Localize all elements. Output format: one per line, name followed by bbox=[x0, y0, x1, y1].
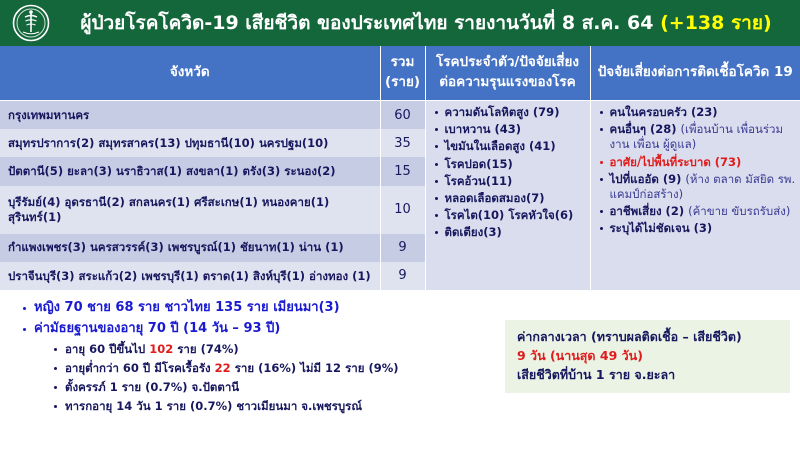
page-header: ผู้ป่วยโรคโควิด-19 เสียชีวิต ของประเทศไท… bbox=[0, 0, 800, 46]
age-item-pre: อายุต่ำกว่า 60 ปี มีโรคเรื้อรัง bbox=[65, 361, 215, 375]
chronic-item-label: โรคไต(10) โรคหัวใจ(6) bbox=[445, 208, 574, 222]
risk-item-label: คนในครอบครัว (23) bbox=[610, 105, 718, 119]
table-header-row: จังหวัด รวม (ราย) โรคประจำตัว/ปัจจัยเสี่… bbox=[0, 46, 800, 101]
time-to-death-value: 9 วัน (นานสุด 49 วัน) bbox=[517, 347, 780, 366]
died-at-home-note: เสียชีวิตที่บ้าน 1 ราย จ.ยะลา bbox=[517, 366, 780, 385]
column-header-total: รวม (ราย) bbox=[380, 46, 425, 101]
age-item-post: ราย (16%) ไม่มี 12 ราย (9%) bbox=[231, 361, 399, 375]
chronic-item-label: ติดเตียง(3) bbox=[445, 225, 502, 239]
column-header-chronic-line1: โรคประจำตัว/ปัจจัยเสี่ยง bbox=[436, 54, 579, 70]
summary-list: หญิง 70 ชาย 68 ราย ชาวไทย 135 ราย เมียนม… bbox=[0, 300, 460, 414]
list-item: ติดเตียง(3) bbox=[432, 225, 586, 240]
age-item-pre: อายุ 60 ปีขึ้นไป bbox=[65, 342, 149, 356]
chronic-item-label: หลอดเลือดสมอง(7) bbox=[445, 191, 545, 205]
age-item-pre: ตั้งครรภ์ 1 ราย (0.7%) จ.ปัตตานี bbox=[65, 380, 239, 394]
page-title: ผู้ป่วยโรคโควิด-19 เสียชีวิต ของประเทศไท… bbox=[62, 13, 800, 34]
age-item-highlight: 22 bbox=[215, 361, 231, 375]
list-item: หลอดเลือดสมอง(7) bbox=[432, 191, 586, 206]
infection-risk-panel: คนในครอบครัว (23) คนอื่นๆ (28) (เพื่อนบ้… bbox=[590, 101, 800, 291]
province-total: 10 bbox=[380, 186, 425, 234]
province-total: 60 bbox=[380, 101, 425, 130]
list-item: ระบุได้ไม่ชัดเจน (3) bbox=[597, 221, 797, 236]
time-to-death-box: ค่ากลางเวลา (ทราบผลติดเชื้อ – เสียชีวิต)… bbox=[505, 320, 790, 393]
province-total: 9 bbox=[380, 262, 425, 290]
age-item-highlight: 102 bbox=[149, 342, 173, 356]
list-item: โรคอ้วน(11) bbox=[432, 174, 586, 189]
list-item: ไปที่แออัด (9) (ห้าง ตลาด มัสยิด รพ. แคม… bbox=[597, 172, 797, 202]
age-item-post: ราย (74%) bbox=[173, 342, 238, 356]
infographic-page: ผู้ป่วยโรคโควิด-19 เสียชีวิต ของประเทศไท… bbox=[0, 0, 800, 450]
list-item: อายุต่ำกว่า 60 ปี มีโรคเรื้อรัง 22 ราย (… bbox=[52, 361, 460, 376]
page-title-delta: (+138 ราย) bbox=[660, 12, 772, 34]
chronic-item-label: โรคอ้วน(11) bbox=[445, 174, 513, 188]
risk-item-label: อาศัย/ไปพื้นที่ระบาด (73) bbox=[610, 155, 742, 169]
age-breakdown-list: อายุ 60 ปีขึ้นไป 102 ราย (74%) อายุต่ำกว… bbox=[34, 342, 460, 414]
list-item: คนอื่นๆ (28) (เพื่อนบ้าน เพื่อนร่วมงาน เ… bbox=[597, 122, 797, 152]
demographics-summary: หญิง 70 ชาย 68 ราย ชาวไทย 135 ราย เมียนม… bbox=[0, 300, 460, 418]
province-list: กรุงเทพมหานคร bbox=[0, 101, 380, 130]
column-header-risk: ปัจจัยเสี่ยงต่อการติดเชื้อโควิด 19 bbox=[590, 46, 800, 101]
list-item: ทารกอายุ 14 วัน 1 ราย (0.7%) ชาวเมียนมา … bbox=[52, 399, 460, 414]
deaths-by-province-table: จังหวัด รวม (ราย) โรคประจำตัว/ปัจจัยเสี่… bbox=[0, 46, 800, 290]
column-header-chronic-line2: ต่อความรุนแรงของโรค bbox=[439, 74, 575, 90]
list-item: อาศัย/ไปพื้นที่ระบาด (73) bbox=[597, 155, 797, 170]
summary-gender-nationality: หญิง 70 ชาย 68 ราย ชาวไทย 135 ราย เมียนม… bbox=[34, 300, 340, 315]
summary-median-age: ค่ามัธยฐานของอายุ 70 ปี (14 วัน – 93 ปี) bbox=[34, 321, 280, 336]
risk-item-label: ระบุได้ไม่ชัดเจน (3) bbox=[610, 221, 713, 235]
chronic-item-label: เบาหวาน (43) bbox=[445, 122, 522, 136]
list-item: โรคไต(10) โรคหัวใจ(6) bbox=[432, 208, 586, 223]
age-item-pre: ทารกอายุ 14 วัน 1 ราย (0.7%) ชาวเมียนมา … bbox=[65, 399, 362, 413]
chronic-conditions-list: ความดันโลหิตสูง (79) เบาหวาน (43) ไขมันใ… bbox=[432, 105, 586, 240]
list-item: ตั้งครรภ์ 1 ราย (0.7%) จ.ปัตตานี bbox=[52, 380, 460, 395]
chronic-item-label: ไขมันในเลือดสูง (41) bbox=[445, 139, 556, 153]
infection-risk-list: คนในครอบครัว (23) คนอื่นๆ (28) (เพื่อนบ้… bbox=[597, 105, 797, 236]
province-total: 9 bbox=[380, 234, 425, 262]
chronic-item-label: ความดันโลหิตสูง (79) bbox=[445, 105, 560, 119]
province-list: ปัตตานี(5) ยะลา(3) นราธิวาส(1) สงขลา(1) … bbox=[0, 157, 380, 185]
column-header-chronic: โรคประจำตัว/ปัจจัยเสี่ยง ต่อความรุนแรงขอ… bbox=[425, 46, 590, 101]
risk-item-detail: (ค้าขาย ขับรถรับส่ง) bbox=[688, 204, 790, 218]
column-header-total-line1: รวม bbox=[391, 54, 415, 70]
province-list: กำแพงเพชร(3) นครสวรรค์(3) เพชรบูรณ์(1) ช… bbox=[0, 234, 380, 262]
chronic-conditions-panel: ความดันโลหิตสูง (79) เบาหวาน (43) ไขมันใ… bbox=[425, 101, 590, 291]
column-header-total-line2: (ราย) bbox=[385, 74, 420, 90]
risk-item-label: อาชีพเสี่ยง (2) bbox=[610, 204, 689, 218]
risk-item-label: คนอื่นๆ (28) bbox=[610, 122, 681, 136]
time-to-death-label: ค่ากลางเวลา (ทราบผลติดเชื้อ – เสียชีวิต) bbox=[517, 328, 780, 347]
list-item: เบาหวาน (43) bbox=[432, 122, 586, 137]
ministry-of-public-health-logo-icon bbox=[0, 0, 62, 46]
page-title-main: ผู้ป่วยโรคโควิด-19 เสียชีวิต ของประเทศไท… bbox=[80, 12, 653, 34]
province-list: ปราจีนบุรี(3) สระแก้ว(2) เพชรบุรี(1) ตรา… bbox=[0, 262, 380, 290]
list-item: ความดันโลหิตสูง (79) bbox=[432, 105, 586, 120]
list-item: คนในครอบครัว (23) bbox=[597, 105, 797, 120]
list-item: ไขมันในเลือดสูง (41) bbox=[432, 139, 586, 154]
province-list: สมุทรปราการ(2) สมุทรสาคร(13) ปทุมธานี(10… bbox=[0, 129, 380, 157]
province-total: 35 bbox=[380, 129, 425, 157]
risk-item-label: ไปที่แออัด (9) bbox=[610, 172, 686, 186]
list-item: หญิง 70 ชาย 68 ราย ชาวไทย 135 ราย เมียนม… bbox=[22, 300, 460, 317]
list-item: อาชีพเสี่ยง (2) (ค้าขาย ขับรถรับส่ง) bbox=[597, 204, 797, 219]
list-item: ค่ามัธยฐานของอายุ 70 ปี (14 วัน – 93 ปี)… bbox=[22, 321, 460, 414]
list-item: อายุ 60 ปีขึ้นไป 102 ราย (74%) bbox=[52, 342, 460, 357]
column-header-province: จังหวัด bbox=[0, 46, 380, 101]
list-item: โรคปอด(15) bbox=[432, 157, 586, 172]
province-total: 15 bbox=[380, 157, 425, 185]
chronic-item-label: โรคปอด(15) bbox=[445, 157, 513, 171]
province-list: บุรีรัมย์(4) อุดรธานี(2) สกลนคร(1) ศรีสะ… bbox=[0, 186, 380, 234]
table-row: กรุงเทพมหานคร 60 ความดันโลหิตสูง (79) เบ… bbox=[0, 101, 800, 130]
